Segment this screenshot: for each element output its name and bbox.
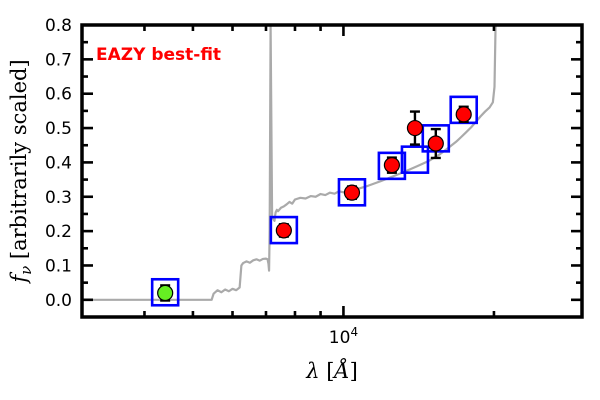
x-axis-title-text: λ [Å]: [305, 358, 358, 383]
y-axis-title-text: fν [arbitrarily scaled]: [7, 59, 35, 284]
x-tick-label-10e4: 104: [329, 325, 358, 348]
model-photometry-group: [152, 97, 477, 305]
data-point: [158, 285, 173, 300]
axes-frame: [82, 25, 582, 317]
sed-plot: 0.00.10.20.30.40.50.60.70.8 104 λ [Å] fν…: [0, 0, 600, 400]
y-tick-label: 0.6: [45, 85, 72, 105]
y-tick-label: 0.2: [45, 222, 72, 242]
axis-ticks-group: [82, 25, 582, 317]
upper-limit-marker: [158, 285, 173, 300]
data-point: [456, 107, 471, 122]
photometry-marker: [428, 136, 443, 151]
data-point: [407, 112, 422, 145]
data-point: [384, 158, 399, 173]
y-tick-label: 0.0: [45, 291, 72, 311]
y-tick-label: 0.7: [45, 50, 72, 70]
y-tick-label: 0.8: [45, 16, 72, 36]
y-tick-label: 0.3: [45, 188, 72, 208]
template-spectrum-group: [82, 25, 582, 300]
figure-canvas: 0.00.10.20.30.40.50.60.70.8 104 λ [Å] fν…: [0, 0, 600, 400]
data-point: [276, 223, 291, 238]
x-axis-title: λ [Å]: [305, 358, 358, 383]
eazy-best-fit-annotation: EAZY best-fit: [96, 45, 221, 65]
photometry-marker: [456, 107, 471, 122]
y-tick-label: 0.1: [45, 256, 72, 276]
photometry-marker: [384, 158, 399, 173]
y-tick-label: 0.4: [45, 153, 72, 173]
template-spectrum-line: [82, 25, 582, 300]
data-point: [344, 185, 359, 200]
photometry-marker: [344, 185, 359, 200]
photometry-marker: [407, 121, 422, 136]
y-axis-title: fν [arbitrarily scaled]: [7, 59, 35, 284]
y-tick-label: 0.5: [45, 119, 72, 139]
y-tick-labels-group: 0.00.10.20.30.40.50.60.70.8: [45, 16, 72, 311]
photometry-marker: [276, 223, 291, 238]
observed-photometry-group: [158, 107, 472, 301]
